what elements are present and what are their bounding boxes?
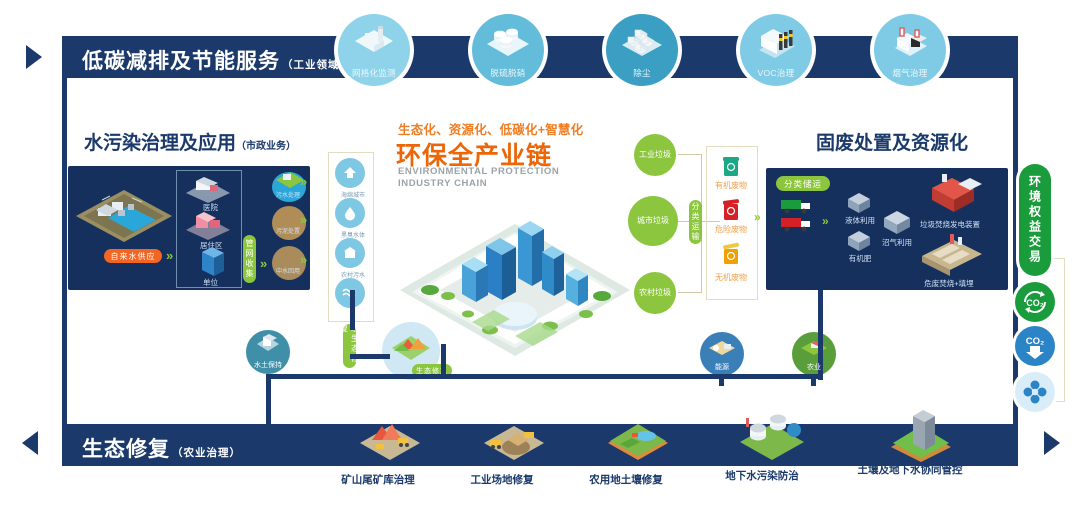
bottom-item-1[interactable]: 工业场地修复 <box>442 414 562 467</box>
connector-line <box>350 354 390 359</box>
output-label-2: 中水回用 <box>276 266 300 275</box>
co2-reduce-badge[interactable]: CO₂ <box>1015 326 1055 366</box>
connector-line <box>441 374 821 379</box>
top-band-title: 低碳减排及节能服务（工业领域） <box>82 45 351 75</box>
bottom-item-0[interactable]: 矿山尾矿库治理 <box>318 414 438 467</box>
co2-recycle-icon: CO₂ <box>1019 286 1051 318</box>
top-node-2[interactable]: 除尘 <box>606 14 678 86</box>
arrow-chevron: » <box>822 214 827 228</box>
mid-node-label: 农业 <box>807 362 821 372</box>
rural-sewage-icon-wrap[interactable] <box>335 238 365 268</box>
waste-source-2[interactable]: 农村垃圾 <box>634 272 676 314</box>
voc-treatment-icon <box>751 26 801 66</box>
arrow-chevron: » <box>260 256 265 271</box>
co2-recycle-badge[interactable]: CO₂ <box>1015 282 1055 322</box>
sort-transport-pill: 分类运输 <box>689 200 702 244</box>
bottom-item-label: 矿山尾矿库治理 <box>341 472 415 487</box>
connector-line <box>266 374 271 426</box>
water-section-heading: 水污染治理及应用（市政业务） <box>84 128 296 155</box>
bin-label-0: 有机废物 <box>707 180 755 191</box>
top-node-label: VOC治理 <box>758 67 795 79</box>
hazardous-waste-bin-icon <box>718 196 744 222</box>
inorganic-waste-bin-icon <box>718 240 744 266</box>
rural-sewage-icon <box>341 244 359 262</box>
top-node-0[interactable]: 网格化监测 <box>338 14 410 86</box>
organic-fertilizer-icon <box>844 228 874 254</box>
top-node-1[interactable]: 脱硫脱硝 <box>472 14 544 86</box>
output-label-0: 污水处理 <box>276 190 300 199</box>
solid-waste-heading: 固废处置及资源化 <box>816 128 968 155</box>
arrow-chevron: » <box>754 210 759 224</box>
product-label-0: 液体利用 <box>840 215 880 226</box>
bottom-item-3[interactable]: 地下水污染防治 <box>702 410 822 467</box>
top-node-3[interactable]: VOC治理 <box>740 14 812 86</box>
arrow-chevron: » <box>166 248 171 263</box>
connector <box>678 292 702 293</box>
energy-icon <box>706 338 738 362</box>
hazardous-landfill-icon <box>906 232 992 278</box>
top-node-label: 脱硫脱硝 <box>490 67 525 79</box>
bottom-item-label: 地下水污染防治 <box>725 468 799 483</box>
sponge-city-icon <box>341 164 359 182</box>
groundwater-icon <box>732 410 812 462</box>
waste-source-1[interactable]: 城市垃圾 <box>628 196 678 246</box>
soil-groundwater-icon <box>883 404 959 464</box>
bottom-item-4[interactable]: 土壤及地下水协同管控 <box>850 404 970 469</box>
black-odor-water-icon-wrap[interactable] <box>335 198 365 228</box>
facility-label-1: 危废焚烧+填埋 <box>906 278 992 289</box>
molecule-badge[interactable] <box>1015 372 1055 412</box>
co2-reduce-icon: CO₂ <box>1018 329 1052 363</box>
waste-incineration-plant-icon <box>912 172 986 220</box>
black-odor-water-icon <box>341 204 359 222</box>
residential-icon <box>182 210 234 242</box>
factory-monitor-icon <box>351 26 397 66</box>
bottom-item-label: 农用地土壤修复 <box>589 472 663 487</box>
bottom-item-2[interactable]: 农用地土壤修复 <box>566 414 686 467</box>
connector-line <box>266 374 446 379</box>
mid-node-2[interactable]: 能源 <box>700 332 744 376</box>
top-node-label: 网格化监测 <box>352 67 396 79</box>
organic-waste-bin-icon <box>718 152 744 178</box>
top-node-4[interactable]: 烟气治理 <box>874 14 946 86</box>
bottom-item-label: 土壤及地下水协同管控 <box>858 462 963 477</box>
connector-line <box>441 344 446 376</box>
classified-transport-pill: 分类储运 <box>776 176 830 191</box>
bottom-band-title: 生态修复（农业治理） <box>82 433 241 463</box>
left-frame-line <box>62 78 67 466</box>
mine-tailings-icon <box>354 414 426 462</box>
flue-gas-icon <box>885 26 935 68</box>
bottom-band-return-arrow <box>1044 431 1060 455</box>
pipe-collection-pill: 管网收集 <box>243 235 256 283</box>
mountain-restore-icon <box>388 332 434 366</box>
arrow-chevron: » <box>300 212 305 227</box>
mid-node-label: 能源 <box>715 362 729 372</box>
output-label-1: 污泥处置 <box>276 226 300 235</box>
center-english: ENVIRONMENTAL PROTECTION INDUSTRY CHAIN <box>398 166 559 189</box>
facility-label-0: 垃圾焚烧发电装置 <box>912 219 988 230</box>
environmental-rights-pill[interactable]: 环境权益交易 <box>1019 164 1051 276</box>
industrial-site-icon <box>478 414 550 462</box>
water-eco-restore-pill: 水生态修复 <box>343 324 356 368</box>
sponge-city-icon-wrap[interactable] <box>335 158 365 188</box>
arrow-chevron: » <box>300 174 305 189</box>
mid-node-0[interactable]: 水土保持 <box>246 330 290 374</box>
connector-line <box>811 374 816 386</box>
desulfur-tanks-icon <box>484 26 532 66</box>
product-label-1: 有机肥 <box>842 253 878 264</box>
top-node-label: 烟气治理 <box>892 67 927 79</box>
waste-source-0[interactable]: 工业垃圾 <box>634 134 676 176</box>
hospital-icon <box>182 173 234 205</box>
top-node-label: 除尘 <box>633 67 651 79</box>
agriculture-icon <box>798 338 830 362</box>
molecule-icon <box>1022 379 1048 405</box>
arrow-chevron: » <box>300 252 305 267</box>
bottom-band-outflow-arrow <box>22 431 38 455</box>
dust-removal-icon <box>618 26 666 66</box>
bin-label-2: 无机废物 <box>707 272 755 283</box>
mid-node-label: 水土保持 <box>254 360 282 370</box>
mid-node-3[interactable]: 农业 <box>792 332 836 376</box>
bin-label-1: 危险废物 <box>707 224 755 235</box>
water-plant-illustration <box>72 186 176 256</box>
connector-line <box>719 374 724 386</box>
connector-line <box>350 290 355 330</box>
tap-water-supply-pill: 自来水供应 <box>104 249 162 263</box>
soil-conservation-icon <box>254 334 282 360</box>
connector <box>678 154 702 155</box>
transport-trucks-icon <box>775 194 821 240</box>
farmland-soil-icon <box>602 414 674 462</box>
liquid-reuse-icon <box>844 190 874 216</box>
bottom-item-label: 工业场地修复 <box>471 472 534 487</box>
svg-text:CO₂: CO₂ <box>1026 336 1044 347</box>
svg-text:CO₂: CO₂ <box>1026 298 1044 308</box>
top-band-inflow-arrow <box>26 45 42 69</box>
water-user-label-2: 单位 <box>203 277 218 288</box>
